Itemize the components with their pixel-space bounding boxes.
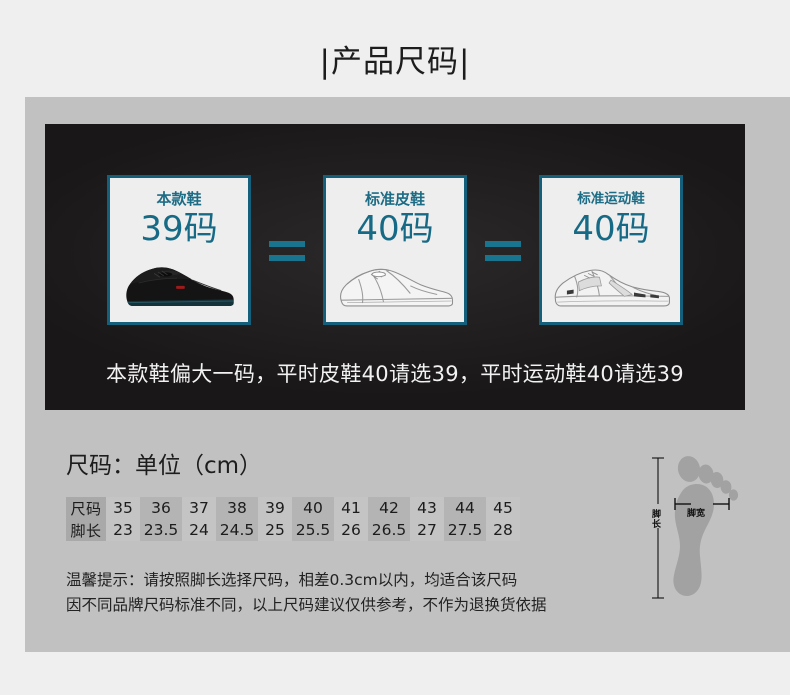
size-card-value: 39码: [110, 208, 248, 250]
table-cell-foot-length: 25: [258, 519, 292, 541]
foot-length-label: 脚长: [651, 510, 663, 530]
table-cell-foot-length: 27: [410, 519, 444, 541]
table-cell-size: 43: [410, 497, 444, 519]
table-cell-foot-length: 28: [486, 519, 520, 541]
comparison-cards-row: 本款鞋 39码: [45, 172, 745, 327]
size-card-title: 本款鞋: [110, 190, 248, 208]
row-label-foot-length: 脚长: [66, 519, 106, 541]
product-size-infographic: |产品尺码| 本款鞋 39码: [0, 0, 790, 695]
table-cell-foot-length: 23.5: [140, 519, 182, 541]
table-cell-foot-length: 26.5: [368, 519, 410, 541]
size-card-value: 40码: [326, 208, 464, 250]
comparison-panel: 本款鞋 39码: [45, 124, 745, 410]
table-cell-size: 36: [140, 497, 182, 519]
table-row-size: 尺码 35 36 37 38 39 40 41 42 43 44 45: [66, 497, 520, 519]
table-cell-foot-length: 27.5: [444, 519, 486, 541]
table-cell-foot-length: 26: [334, 519, 368, 541]
table-cell-foot-length: 24.5: [216, 519, 258, 541]
table-cell-foot-length: 23: [106, 519, 140, 541]
size-notes: 温馨提示：请按照脚长选择尺码，相差0.3cm以内，均适合该尺码 因不同品牌尺码标…: [66, 568, 547, 618]
sneaker-outline-icon: [542, 246, 680, 318]
foot-measurement-diagram: 脚长 脚宽: [645, 452, 750, 604]
cut-off-content-sliver: [150, 690, 570, 695]
table-row-foot-length: 脚长 23 23.5 24 24.5 25 25.5 26 26.5 27 27…: [66, 519, 520, 541]
size-card-this-shoe: 本款鞋 39码: [107, 175, 251, 325]
size-card-value: 40码: [542, 208, 680, 250]
table-cell-size: 41: [334, 497, 368, 519]
dress-shoe-outline-icon: [326, 246, 464, 318]
foot-length-label-text: 脚长: [651, 510, 663, 530]
size-card-standard-leather: 标准皮鞋 40码: [323, 175, 467, 325]
size-card-title: 标准运动鞋: [542, 190, 680, 208]
size-note-line: 温馨提示：请按照脚长选择尺码，相差0.3cm以内，均适合该尺码: [66, 568, 547, 593]
table-cell-foot-length: 25.5: [292, 519, 334, 541]
table-cell-size: 40: [292, 497, 334, 519]
table-cell-size: 42: [368, 497, 410, 519]
size-note-line: 因不同品牌尺码标准不同，以上尺码建议仅供参考，不作为退换货依据: [66, 593, 547, 618]
table-cell-size: 45: [486, 497, 520, 519]
size-section-heading: 尺码：单位（cm）: [66, 450, 262, 482]
table-cell-size: 44: [444, 497, 486, 519]
size-card-title: 标准皮鞋: [326, 190, 464, 208]
size-table: 尺码 35 36 37 38 39 40 41 42 43 44 45 脚长 2…: [66, 497, 520, 541]
table-cell-size: 38: [216, 497, 258, 519]
table-cell-size: 35: [106, 497, 140, 519]
size-card-standard-sports: 标准运动鞋 40码: [539, 175, 683, 325]
table-cell-size: 39: [258, 497, 292, 519]
panel-caption: 本款鞋偏大一码，平时皮鞋40请选39，平时运动鞋40请选39: [45, 360, 745, 388]
equals-operator-1: [269, 233, 305, 267]
table-cell-size: 37: [182, 497, 216, 519]
foot-width-label: 脚宽: [687, 509, 705, 519]
page-title: |产品尺码|: [0, 41, 790, 83]
equals-operator-2: [485, 233, 521, 267]
row-label-size: 尺码: [66, 497, 106, 519]
black-leather-shoe-icon: [110, 246, 248, 318]
table-cell-foot-length: 24: [182, 519, 216, 541]
